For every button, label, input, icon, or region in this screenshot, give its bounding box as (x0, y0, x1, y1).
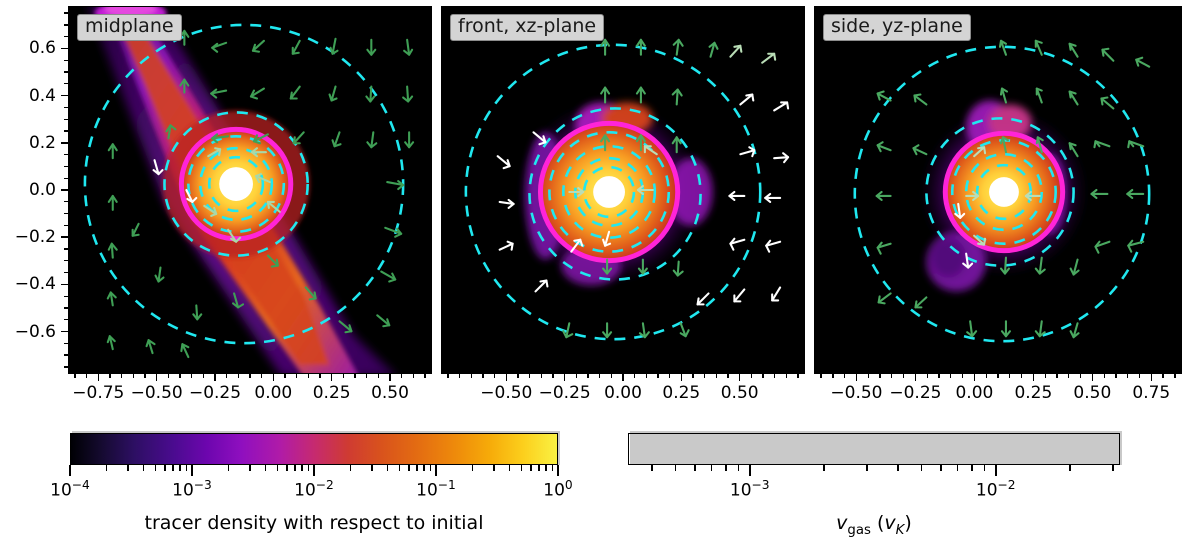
x-tick-label: 0.25 (1014, 383, 1052, 403)
x-tick-major (1092, 374, 1094, 381)
colorbar-tick-minor (371, 465, 373, 471)
colorbar-tick-label: 100 (543, 478, 572, 501)
colorbar-tick-minor (1112, 465, 1114, 471)
colorbar-tick-minor (971, 465, 973, 471)
x-tick-minor (599, 374, 600, 378)
y-tick-minor (64, 154, 68, 155)
x-tick-major (739, 374, 741, 381)
x-tick-label: 0.50 (721, 383, 759, 403)
colorbar-tick-minor (823, 465, 825, 471)
x-tick-minor (1104, 374, 1105, 378)
x-tick-major (1151, 374, 1153, 381)
x-tick-minor (541, 374, 542, 378)
y-tick-minor (64, 12, 68, 13)
y-tick-major (61, 95, 68, 97)
colorbar-tick-major (191, 465, 193, 476)
x-tick-minor (261, 374, 262, 378)
colorbar-2-title: vgas (vK) (836, 512, 912, 538)
x-tick-minor (366, 374, 367, 378)
x-tick-minor (482, 374, 483, 378)
colorbar-tick-minor (308, 465, 310, 471)
x-tick-minor (447, 374, 448, 378)
y-tick-minor (64, 24, 68, 25)
colorbar-tick-minor (738, 465, 740, 471)
colorbar-tick-minor (172, 465, 174, 471)
x-tick-minor (611, 374, 612, 378)
colorbar-tick-label: 10−3 (172, 478, 212, 501)
x-tick-minor (891, 374, 892, 378)
x-tick-minor (1139, 374, 1140, 378)
colorbar-tick-label: 10−1 (416, 478, 456, 501)
colorbar-tick-minor (493, 465, 495, 471)
x-tick-major (331, 374, 333, 381)
y-tick-minor (64, 60, 68, 61)
y-tick-minor (64, 260, 68, 261)
x-tick-minor (962, 374, 963, 378)
y-tick-label: −0.2 (0, 227, 56, 247)
x-tick-minor (471, 374, 472, 378)
colorbar-tick-major (69, 465, 71, 476)
colorbar-tick-minor (940, 465, 942, 471)
colorbar-tick-major (749, 465, 751, 476)
x-tick-minor (657, 374, 658, 378)
colorbar-tick-minor (399, 465, 401, 471)
x-tick-label: 0.00 (955, 383, 993, 403)
x-tick-label: 0.50 (371, 383, 409, 403)
colorbar-tick-minor (143, 465, 145, 471)
x-tick-label: −0.50 (480, 383, 532, 403)
x-tick-label: −0.50 (131, 383, 183, 403)
x-tick-minor (820, 374, 821, 378)
x-tick-minor (727, 374, 728, 378)
x-tick-minor (517, 374, 518, 378)
x-tick-minor (634, 374, 635, 378)
x-tick-minor (343, 374, 344, 378)
y-tick-minor (64, 178, 68, 179)
x-tick-label: −0.75 (72, 383, 124, 403)
midplane-overlay (69, 7, 431, 373)
y-tick-minor (64, 296, 68, 297)
sink-marker (219, 167, 253, 201)
colorbar-tick-label: 10−4 (50, 478, 90, 501)
y-tick-minor (64, 213, 68, 214)
y-tick-major (61, 284, 68, 286)
side-yz-overlay (815, 7, 1181, 373)
x-tick-minor (144, 374, 145, 378)
x-tick-minor (1174, 374, 1175, 378)
colorbar-tick-minor (277, 465, 279, 471)
colorbar-tick-major (435, 465, 437, 476)
x-tick-minor (986, 374, 987, 378)
panel-label-midplane: midplane (77, 14, 182, 41)
colorbar-tick-minor (186, 465, 188, 471)
x-tick-minor (133, 374, 134, 378)
panel-front-xz[interactable]: front, xz-plane (441, 6, 805, 374)
x-tick-major (98, 374, 100, 381)
colorbar-tick-minor (530, 465, 532, 471)
x-tick-minor (997, 374, 998, 378)
y-tick-minor (64, 307, 68, 308)
x-tick-minor (401, 374, 402, 378)
y-tick-major (61, 142, 68, 144)
x-tick-major (856, 374, 858, 381)
colorbar-tick-minor (286, 465, 288, 471)
x-tick-label: 0.00 (604, 383, 642, 403)
colorbar-tick-minor (294, 465, 296, 471)
y-tick-minor (64, 201, 68, 202)
panel-label-front-xz: front, xz-plane (450, 14, 604, 41)
x-tick-major (1033, 374, 1035, 381)
x-tick-minor (903, 374, 904, 378)
colorbar-tick-minor (423, 465, 425, 471)
x-tick-minor (774, 374, 775, 378)
x-tick-minor (179, 374, 180, 378)
y-tick-minor (64, 71, 68, 72)
x-tick-minor (797, 374, 798, 378)
colorbar-1-title: tracer density with respect to initial (145, 512, 484, 534)
x-tick-minor (879, 374, 880, 378)
x-tick-minor (751, 374, 752, 378)
x-tick-label: 0.25 (313, 383, 351, 403)
x-tick-minor (646, 374, 647, 378)
colorbar-tick-minor (106, 465, 108, 471)
colorbar-tick-minor (521, 465, 523, 471)
x-tick-minor (950, 374, 951, 378)
colorbar-tick-minor (164, 465, 166, 471)
x-tick-minor (354, 374, 355, 378)
x-tick-minor (203, 374, 204, 378)
x-tick-minor (296, 374, 297, 378)
y-tick-minor (64, 166, 68, 167)
y-tick-minor (64, 130, 68, 131)
x-tick-minor (587, 374, 588, 378)
x-tick-label: 0.00 (254, 383, 292, 403)
x-tick-minor (938, 374, 939, 378)
y-tick-label: 0.2 (0, 133, 56, 153)
y-tick-label: 0.4 (0, 86, 56, 106)
figure-canvas: midplane (0, 0, 1200, 548)
colorbar-tick-minor (249, 465, 251, 471)
panel-label-side-yz: side, yz-plane (823, 14, 971, 41)
y-tick-major (61, 331, 68, 333)
y-tick-minor (64, 83, 68, 84)
x-tick-major (622, 374, 624, 381)
x-tick-major (974, 374, 976, 381)
colorbar-tick-minor (545, 465, 547, 471)
x-tick-minor (1009, 374, 1010, 378)
x-tick-minor (284, 374, 285, 378)
x-tick-major (915, 374, 917, 381)
y-tick-minor (64, 225, 68, 226)
y-tick-minor (64, 319, 68, 320)
panel-midplane[interactable]: midplane (68, 6, 432, 374)
x-tick-minor (1115, 374, 1116, 378)
x-tick-major (214, 374, 216, 381)
y-tick-label: −0.4 (0, 274, 56, 294)
x-tick-minor (868, 374, 869, 378)
colorbar-tick-label: 10−3 (730, 478, 770, 501)
y-tick-major (61, 48, 68, 50)
colorbar-tick-minor (509, 465, 511, 471)
colorbar-tick-minor (725, 465, 727, 471)
tracer-density-colorbar[interactable] (70, 433, 558, 465)
colorbar-tick-minor (387, 465, 389, 471)
colorbar-tick-minor (957, 465, 959, 471)
front-xz-overlay (442, 7, 804, 373)
x-tick-minor (1080, 374, 1081, 378)
y-tick-major (61, 236, 68, 238)
colorbar-tick-minor (694, 465, 696, 471)
colorbar-tick-minor (866, 465, 868, 471)
colorbar-tick-minor (127, 465, 129, 471)
colorbar-tick-minor (155, 465, 157, 471)
gas-velocity-colorbar[interactable] (628, 433, 1120, 465)
y-tick-label: 0.0 (0, 180, 56, 200)
colorbar-tick-major (995, 465, 997, 476)
sink-marker (593, 176, 625, 208)
x-tick-minor (191, 374, 192, 378)
x-tick-minor (249, 374, 250, 378)
x-tick-label: 0.25 (662, 383, 700, 403)
x-tick-minor (109, 374, 110, 378)
x-tick-minor (1068, 374, 1069, 378)
colorbar-tick-minor (651, 465, 653, 471)
x-tick-minor (1056, 374, 1057, 378)
x-tick-minor (74, 374, 75, 378)
x-tick-minor (1045, 374, 1046, 378)
v-k-symbol: v (884, 512, 895, 534)
colorbar-tick-minor (1069, 465, 1071, 471)
x-tick-minor (716, 374, 717, 378)
x-tick-minor (86, 374, 87, 378)
x-tick-minor (927, 374, 928, 378)
x-tick-minor (1162, 374, 1163, 378)
colorbar-tick-minor (921, 465, 923, 471)
x-tick-minor (529, 374, 530, 378)
x-tick-minor (319, 374, 320, 378)
x-tick-minor (378, 374, 379, 378)
y-tick-major (61, 189, 68, 191)
y-tick-minor (64, 248, 68, 249)
panel-side-yz[interactable]: side, yz-plane (814, 6, 1182, 374)
x-tick-major (681, 374, 683, 381)
x-tick-minor (1127, 374, 1128, 378)
x-tick-minor (704, 374, 705, 378)
y-tick-minor (64, 119, 68, 120)
y-tick-minor (64, 343, 68, 344)
x-tick-minor (692, 374, 693, 378)
x-tick-label: −0.25 (189, 383, 241, 403)
y-tick-label: 0.6 (0, 38, 56, 58)
v-gas-subscript: gas (847, 523, 871, 538)
x-tick-major (273, 374, 275, 381)
colorbar-tick-minor (711, 465, 713, 471)
x-tick-minor (762, 374, 763, 378)
colorbar-tick-minor (179, 465, 181, 471)
x-tick-major (506, 374, 508, 381)
colorbar-tick-minor (472, 465, 474, 471)
colorbar-tick-label: 10−2 (294, 478, 334, 501)
x-tick-minor (226, 374, 227, 378)
x-tick-major (564, 374, 566, 381)
x-tick-major (389, 374, 391, 381)
x-tick-minor (832, 374, 833, 378)
y-tick-minor (64, 107, 68, 108)
y-tick-minor (64, 36, 68, 37)
x-tick-minor (459, 374, 460, 378)
x-tick-major (156, 374, 158, 381)
sink-marker (989, 177, 1019, 207)
colorbar-tick-minor (350, 465, 352, 471)
x-tick-minor (1021, 374, 1022, 378)
y-tick-label: −0.6 (0, 322, 56, 342)
colorbar-tick-minor (408, 465, 410, 471)
paren-open: ( (871, 512, 884, 534)
colorbar-tick-minor (416, 465, 418, 471)
x-tick-minor (424, 374, 425, 378)
colorbar-tick-major (313, 465, 315, 476)
x-tick-label: 0.75 (1132, 383, 1170, 403)
colorbar-tick-minor (301, 465, 303, 471)
colorbar-tick-minor (897, 465, 899, 471)
colorbar-tick-minor (228, 465, 230, 471)
colorbar-tick-minor (430, 465, 432, 471)
colorbar-tick-major (557, 465, 559, 476)
x-tick-minor (121, 374, 122, 378)
y-tick-minor (64, 272, 68, 273)
x-tick-label: −0.25 (539, 383, 591, 403)
colorbar-tick-minor (538, 465, 540, 471)
y-tick-minor (64, 366, 68, 367)
v-gas-symbol: v (836, 512, 847, 534)
colorbar-tick-label: 10−2 (976, 478, 1016, 501)
colorbar-tick-minor (984, 465, 986, 471)
x-tick-minor (576, 374, 577, 378)
x-tick-minor (413, 374, 414, 378)
paren-close: ) (904, 512, 911, 534)
x-tick-minor (308, 374, 309, 378)
x-tick-minor (669, 374, 670, 378)
colorbar-tick-minor (552, 465, 554, 471)
x-tick-label: 0.50 (1073, 383, 1111, 403)
colorbar-tick-minor (675, 465, 677, 471)
x-tick-minor (494, 374, 495, 378)
y-tick-minor (64, 354, 68, 355)
x-tick-minor (844, 374, 845, 378)
x-tick-minor (552, 374, 553, 378)
x-tick-label: −0.50 (830, 383, 882, 403)
x-tick-label: −0.25 (889, 383, 941, 403)
x-tick-minor (786, 374, 787, 378)
v-k-subscript: K (896, 523, 905, 538)
x-tick-minor (168, 374, 169, 378)
colorbar-tick-minor (265, 465, 267, 471)
x-tick-minor (238, 374, 239, 378)
